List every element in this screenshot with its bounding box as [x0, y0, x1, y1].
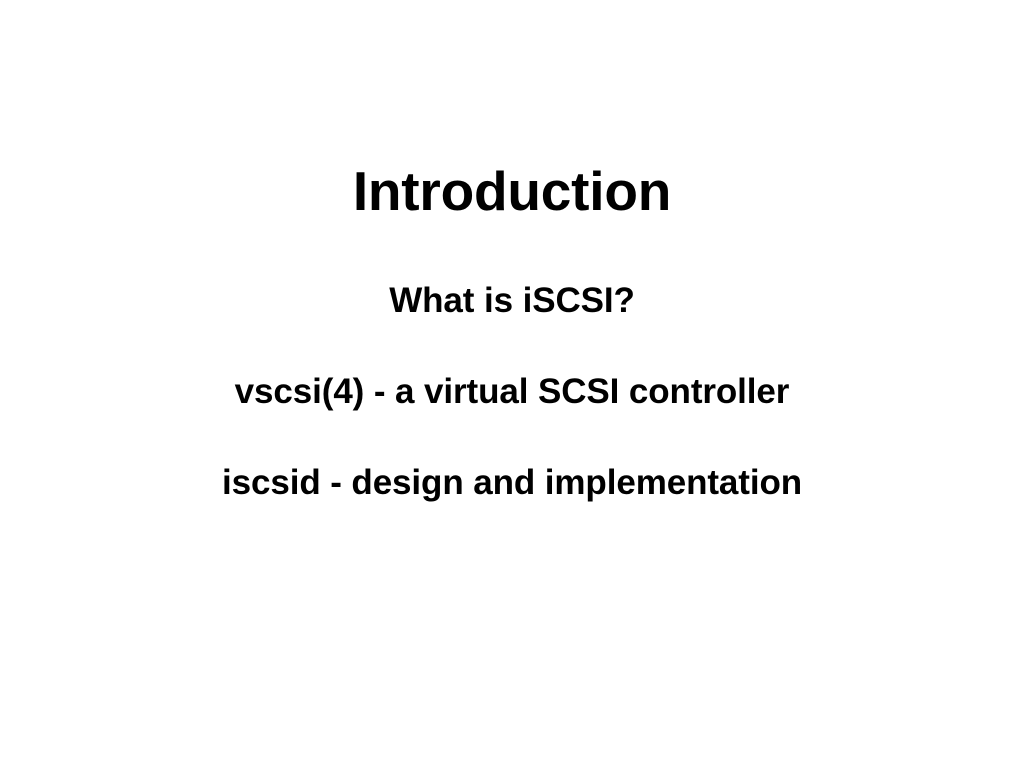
- slide-body-list: What is iSCSI? vscsi(4) - a virtual SCSI…: [0, 283, 1024, 500]
- slide-title: Introduction: [0, 164, 1024, 219]
- slide-body-line: What is iSCSI?: [0, 283, 1024, 318]
- slide-body-line: iscsid - design and implementation: [0, 465, 1024, 500]
- slide-body-line: vscsi(4) - a virtual SCSI controller: [0, 374, 1024, 409]
- presentation-slide: Introduction What is iSCSI? vscsi(4) - a…: [0, 0, 1024, 768]
